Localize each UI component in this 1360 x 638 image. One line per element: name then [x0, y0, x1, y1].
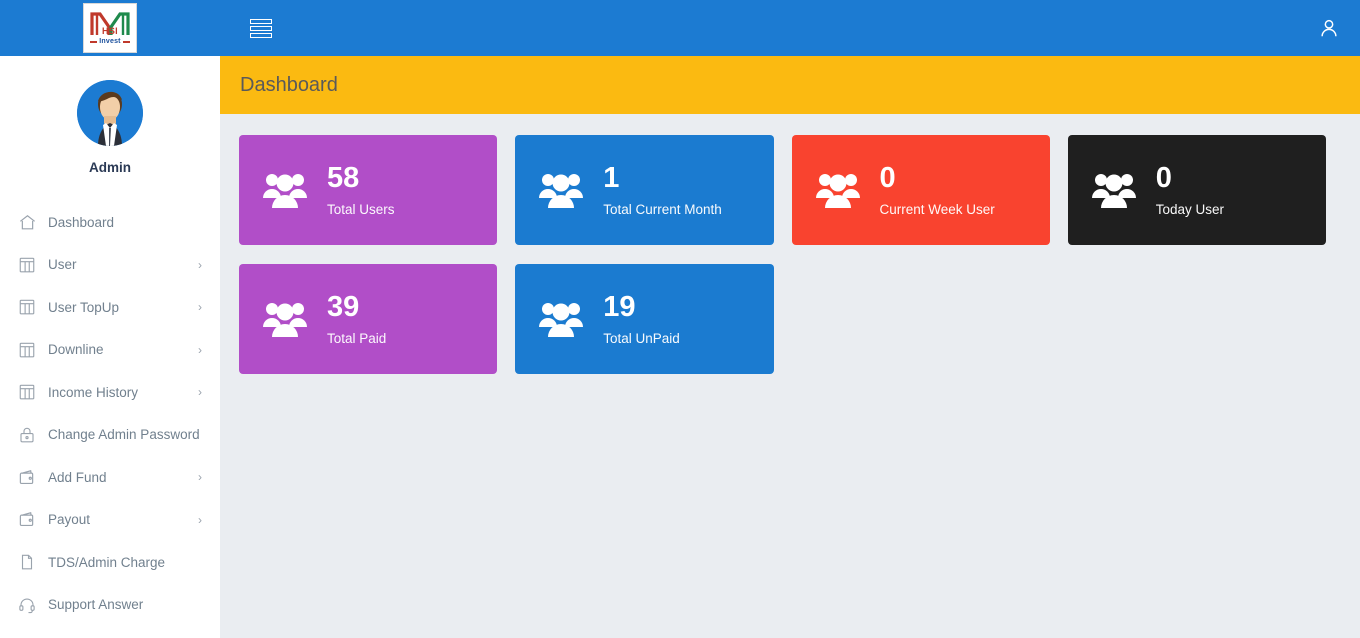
user-account-icon[interactable] [1316, 15, 1342, 41]
logo-text-hsi: HSI [88, 27, 132, 36]
stat-card-grid: 58 Total Users 1 [239, 135, 1344, 393]
dashboard-page: HSI Invest [0, 0, 1360, 638]
stat-card-text: 39 Total Paid [327, 292, 386, 346]
wallet-icon [16, 466, 38, 488]
top-navigation-bar: HSI Invest [0, 0, 1360, 56]
stat-card-label: Today User [1156, 202, 1224, 217]
sidebar-item-user-topup[interactable]: User TopUp › [0, 286, 220, 329]
sidebar-item-change-admin-password[interactable]: Change Admin Password [0, 414, 220, 457]
stat-card-text: 0 Current Week User [880, 163, 995, 217]
hamburger-bar [250, 19, 272, 24]
stat-card-value: 1 [603, 163, 722, 193]
table-icon [16, 254, 38, 276]
chevron-right-icon: › [198, 471, 202, 483]
users-group-icon [1090, 168, 1138, 212]
sidebar-item-dashboard[interactable]: Dashboard [0, 201, 220, 244]
stat-card-text: 0 Today User [1156, 163, 1224, 217]
sidebar-menu: Dashboard User › [0, 201, 220, 626]
stat-card-total-users[interactable]: 58 Total Users [239, 135, 497, 245]
table-icon [16, 381, 38, 403]
sidebar-item-label: Payout [48, 512, 90, 527]
sidebar-item-label: Downline [48, 342, 104, 357]
wallet-icon [16, 509, 38, 531]
sidebar-item-label: Change Admin Password [48, 427, 200, 442]
chevron-right-icon: › [198, 514, 202, 526]
stat-card-cell: 1 Total Current Month [515, 135, 791, 245]
stat-card-total-paid[interactable]: 39 Total Paid [239, 264, 497, 374]
chevron-right-icon: › [198, 301, 202, 313]
sidebar-item-label: Add Fund [48, 470, 107, 485]
logo-box: HSI Invest [83, 3, 137, 53]
table-icon [16, 296, 38, 318]
stat-card-label: Current Week User [880, 202, 995, 217]
stat-card-value: 58 [327, 163, 395, 193]
users-group-icon [814, 168, 862, 212]
logo-text-invest-row: Invest [90, 38, 129, 46]
table-icon [16, 339, 38, 361]
stat-card-current-week-user[interactable]: 0 Current Week User [792, 135, 1050, 245]
users-group-icon [261, 168, 309, 212]
sidebar-item-label: Dashboard [48, 215, 114, 230]
stat-card-value: 19 [603, 292, 680, 322]
home-icon [16, 211, 38, 233]
stat-card-text: 1 Total Current Month [603, 163, 722, 217]
sidebar-item-user[interactable]: User › [0, 244, 220, 287]
file-icon [16, 551, 38, 573]
stat-card-label: Total Users [327, 202, 395, 217]
sidebar-item-tds-admin-charge[interactable]: TDS/Admin Charge [0, 541, 220, 584]
admin-avatar[interactable] [77, 80, 143, 146]
stat-card-value: 0 [880, 163, 995, 193]
stat-card-label: Total UnPaid [603, 331, 680, 346]
main-content: 58 Total Users 1 [220, 114, 1360, 638]
sidebar-item-label: Support Answer [48, 597, 143, 612]
stat-card-cell: 58 Total Users [239, 135, 515, 245]
sidebar-profile: Admin [0, 56, 220, 185]
chevron-right-icon: › [198, 259, 202, 271]
sidebar-item-income-history[interactable]: Income History › [0, 371, 220, 414]
stat-card-value: 39 [327, 292, 386, 322]
stat-card-total-current-month[interactable]: 1 Total Current Month [515, 135, 773, 245]
sidebar-item-label: User [48, 257, 77, 272]
stat-card-label: Total Paid [327, 331, 386, 346]
hamburger-bar [250, 26, 272, 31]
users-group-icon [537, 297, 585, 341]
page-header-bar: Dashboard [220, 56, 1360, 114]
stat-card-today-user[interactable]: 0 Today User [1068, 135, 1326, 245]
stat-card-cell: 39 Total Paid [239, 264, 515, 374]
logo-dash-right [123, 41, 130, 43]
stat-card-cell: 0 Current Week User [792, 135, 1068, 245]
lock-icon [16, 424, 38, 446]
sidebar-item-downline[interactable]: Downline › [0, 329, 220, 372]
hamburger-bar [250, 33, 272, 38]
profile-name: Admin [89, 160, 131, 175]
hamburger-icon[interactable] [250, 17, 272, 39]
logo-text-invest: Invest [99, 38, 120, 46]
stat-card-label: Total Current Month [603, 202, 722, 217]
sidebar-item-add-fund[interactable]: Add Fund › [0, 456, 220, 499]
brand-logo[interactable]: HSI Invest [0, 0, 220, 56]
mhsi-logo-icon: HSI [88, 11, 132, 37]
users-group-icon [537, 168, 585, 212]
sidebar-item-label: Income History [48, 385, 138, 400]
stat-card-total-unpaid[interactable]: 19 Total UnPaid [515, 264, 773, 374]
stat-card-cell: 0 Today User [1068, 135, 1344, 245]
headset-icon [16, 594, 38, 616]
stat-card-value: 0 [1156, 163, 1224, 193]
users-group-icon [261, 297, 309, 341]
sidebar-item-payout[interactable]: Payout › [0, 499, 220, 542]
sidebar-item-label: User TopUp [48, 300, 119, 315]
sidebar-item-support-answer[interactable]: Support Answer [0, 584, 220, 627]
sidebar: Admin Dashboard Us [0, 56, 220, 638]
sidebar-item-label: TDS/Admin Charge [48, 555, 165, 570]
page-title: Dashboard [240, 74, 338, 97]
stat-card-cell: 19 Total UnPaid [515, 264, 791, 374]
logo-dash-left [90, 41, 97, 43]
chevron-right-icon: › [198, 344, 202, 356]
stat-card-text: 19 Total UnPaid [603, 292, 680, 346]
stat-card-text: 58 Total Users [327, 163, 395, 217]
chevron-right-icon: › [198, 386, 202, 398]
